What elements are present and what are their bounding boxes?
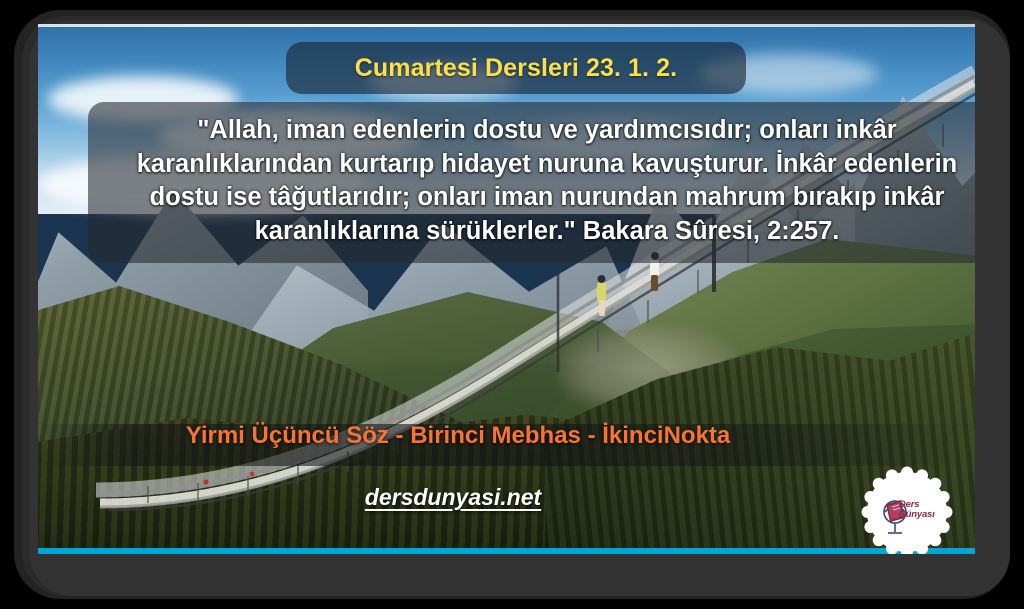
quote-text: "Allah, iman edenlerin dostu ve yardımcı… [102,114,975,249]
accent-progress-bar [38,548,975,554]
ders-dunyasi-logo[interactable]: Ders Dünyası [861,466,953,554]
page-title: Cumartesi Dersleri 23. 1. 2. [355,54,677,83]
lesson-subtitle: Yirmi Üçüncü Söz - Birinci Mebhas - İkin… [38,422,878,450]
quote-plate: "Allah, iman edenlerin dostu ve yardımcı… [88,102,975,263]
screenshot-canvas: Cumartesi Dersleri 23. 1. 2. "Allah, ima… [0,0,1024,609]
top-highlight-line [38,24,975,27]
title-plate: Cumartesi Dersleri 23. 1. 2. [286,42,746,94]
slide-media-area[interactable]: Cumartesi Dersleri 23. 1. 2. "Allah, ima… [38,24,975,554]
logo-wordmark: Ders Dünyası [899,500,951,520]
logo-word-line2: Dünyası [899,510,951,520]
site-url-link[interactable]: dersdunyasi.net [38,484,868,511]
